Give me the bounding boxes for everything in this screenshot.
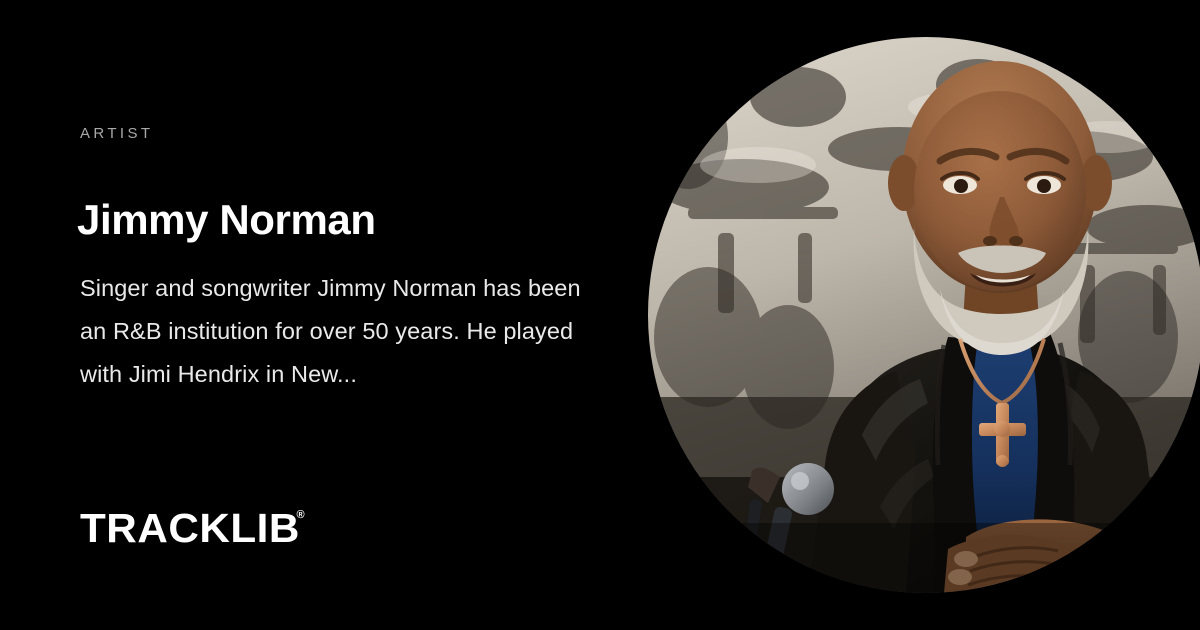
tracklib-logo[interactable]: TRACKLIB ® <box>80 508 305 549</box>
page-title: Jimmy Norman <box>77 196 376 243</box>
artist-description: Singer and songwriter Jimmy Norman has b… <box>80 267 610 396</box>
artist-portrait-illustration <box>648 37 1200 593</box>
social-card: ARTIST Jimmy Norman Singer and songwrite… <box>0 0 1200 630</box>
eyebrow-label: ARTIST <box>80 126 153 141</box>
logo-wordmark: TRACKLIB <box>80 508 300 549</box>
artist-portrait <box>648 37 1200 593</box>
